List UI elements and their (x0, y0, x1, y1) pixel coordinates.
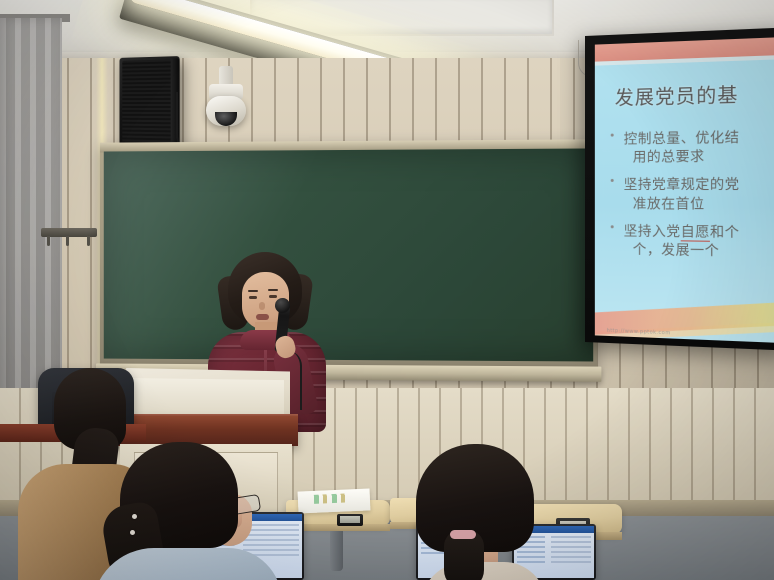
camera-mount-stem (219, 66, 233, 86)
audience-student-b (86, 442, 286, 580)
coat-hook (87, 236, 90, 246)
presenter-mouth (256, 314, 269, 320)
speaker-grille (122, 59, 170, 150)
slide-title: 发展党员的基 (615, 83, 774, 110)
presenter-eye-right (269, 295, 277, 298)
chalkboard (100, 139, 597, 374)
student-desk-leg (330, 531, 343, 571)
bullet-1-line-2: 用的总要求 (611, 147, 774, 167)
projection-screen: 发展党员的基 控制总量、优化结 用的总要求 坚持党章规定的党 准放在首位 坚持入… (585, 27, 774, 351)
presenter-brow-left (248, 290, 258, 292)
microphone-cord (286, 350, 302, 410)
presenter-nose (259, 302, 265, 310)
classroom-photo: 发展党员的基 控制总量、优化结 用的总要求 坚持党章规定的党 准放在首位 坚持入… (0, 0, 774, 580)
bullet-3-pre: 坚持入党 (624, 223, 681, 240)
bullet-3-line-2: 个，发展一个 (611, 240, 774, 262)
slide-bullet-2: 坚持党章规定的党 准放在首位 (611, 176, 774, 214)
bullet-dot-icon (611, 225, 614, 228)
bullet-3-emphasis: 自愿 (681, 224, 710, 242)
chalkboard-surface (104, 148, 593, 361)
presenter-brow-right (268, 289, 278, 291)
stack-of-documents (298, 488, 371, 513)
document-highlight-marks (314, 493, 348, 503)
coat-hook (66, 236, 69, 246)
bullet-dot-icon (611, 134, 614, 137)
presenter-eye-left (249, 296, 257, 299)
bullet-2-line-2: 准放在首位 (611, 195, 774, 215)
bullet-2-line-1: 坚持党章规定的党 (611, 176, 774, 195)
wall-speaker-icon (119, 56, 179, 155)
audience-student-c (398, 444, 558, 580)
chalkboard-glare (104, 148, 593, 361)
student-b-hair-clip (132, 514, 137, 519)
presentation-remote-display (340, 516, 360, 523)
slide-bullet-1: 控制总量、优化结 用的总要求 (611, 128, 774, 168)
slide-bullet-list: 控制总量、优化结 用的总要求 坚持党章规定的党 准放在首位 坚持入党自愿和个 个… (611, 128, 774, 272)
slide-bullet-3: 坚持入党自愿和个 个，发展一个 (611, 222, 774, 262)
bullet-1-line-1: 控制总量、优化结 (611, 128, 774, 149)
student-b-hair-clip (130, 530, 135, 535)
bullet-3-post: 和个 (710, 224, 740, 241)
presentation-slide: 发展党员的基 控制总量、优化结 用的总要求 坚持党章规定的党 准放在首位 坚持入… (595, 37, 774, 343)
coat-hook (47, 236, 50, 246)
student-c-hair-tie (450, 530, 476, 539)
